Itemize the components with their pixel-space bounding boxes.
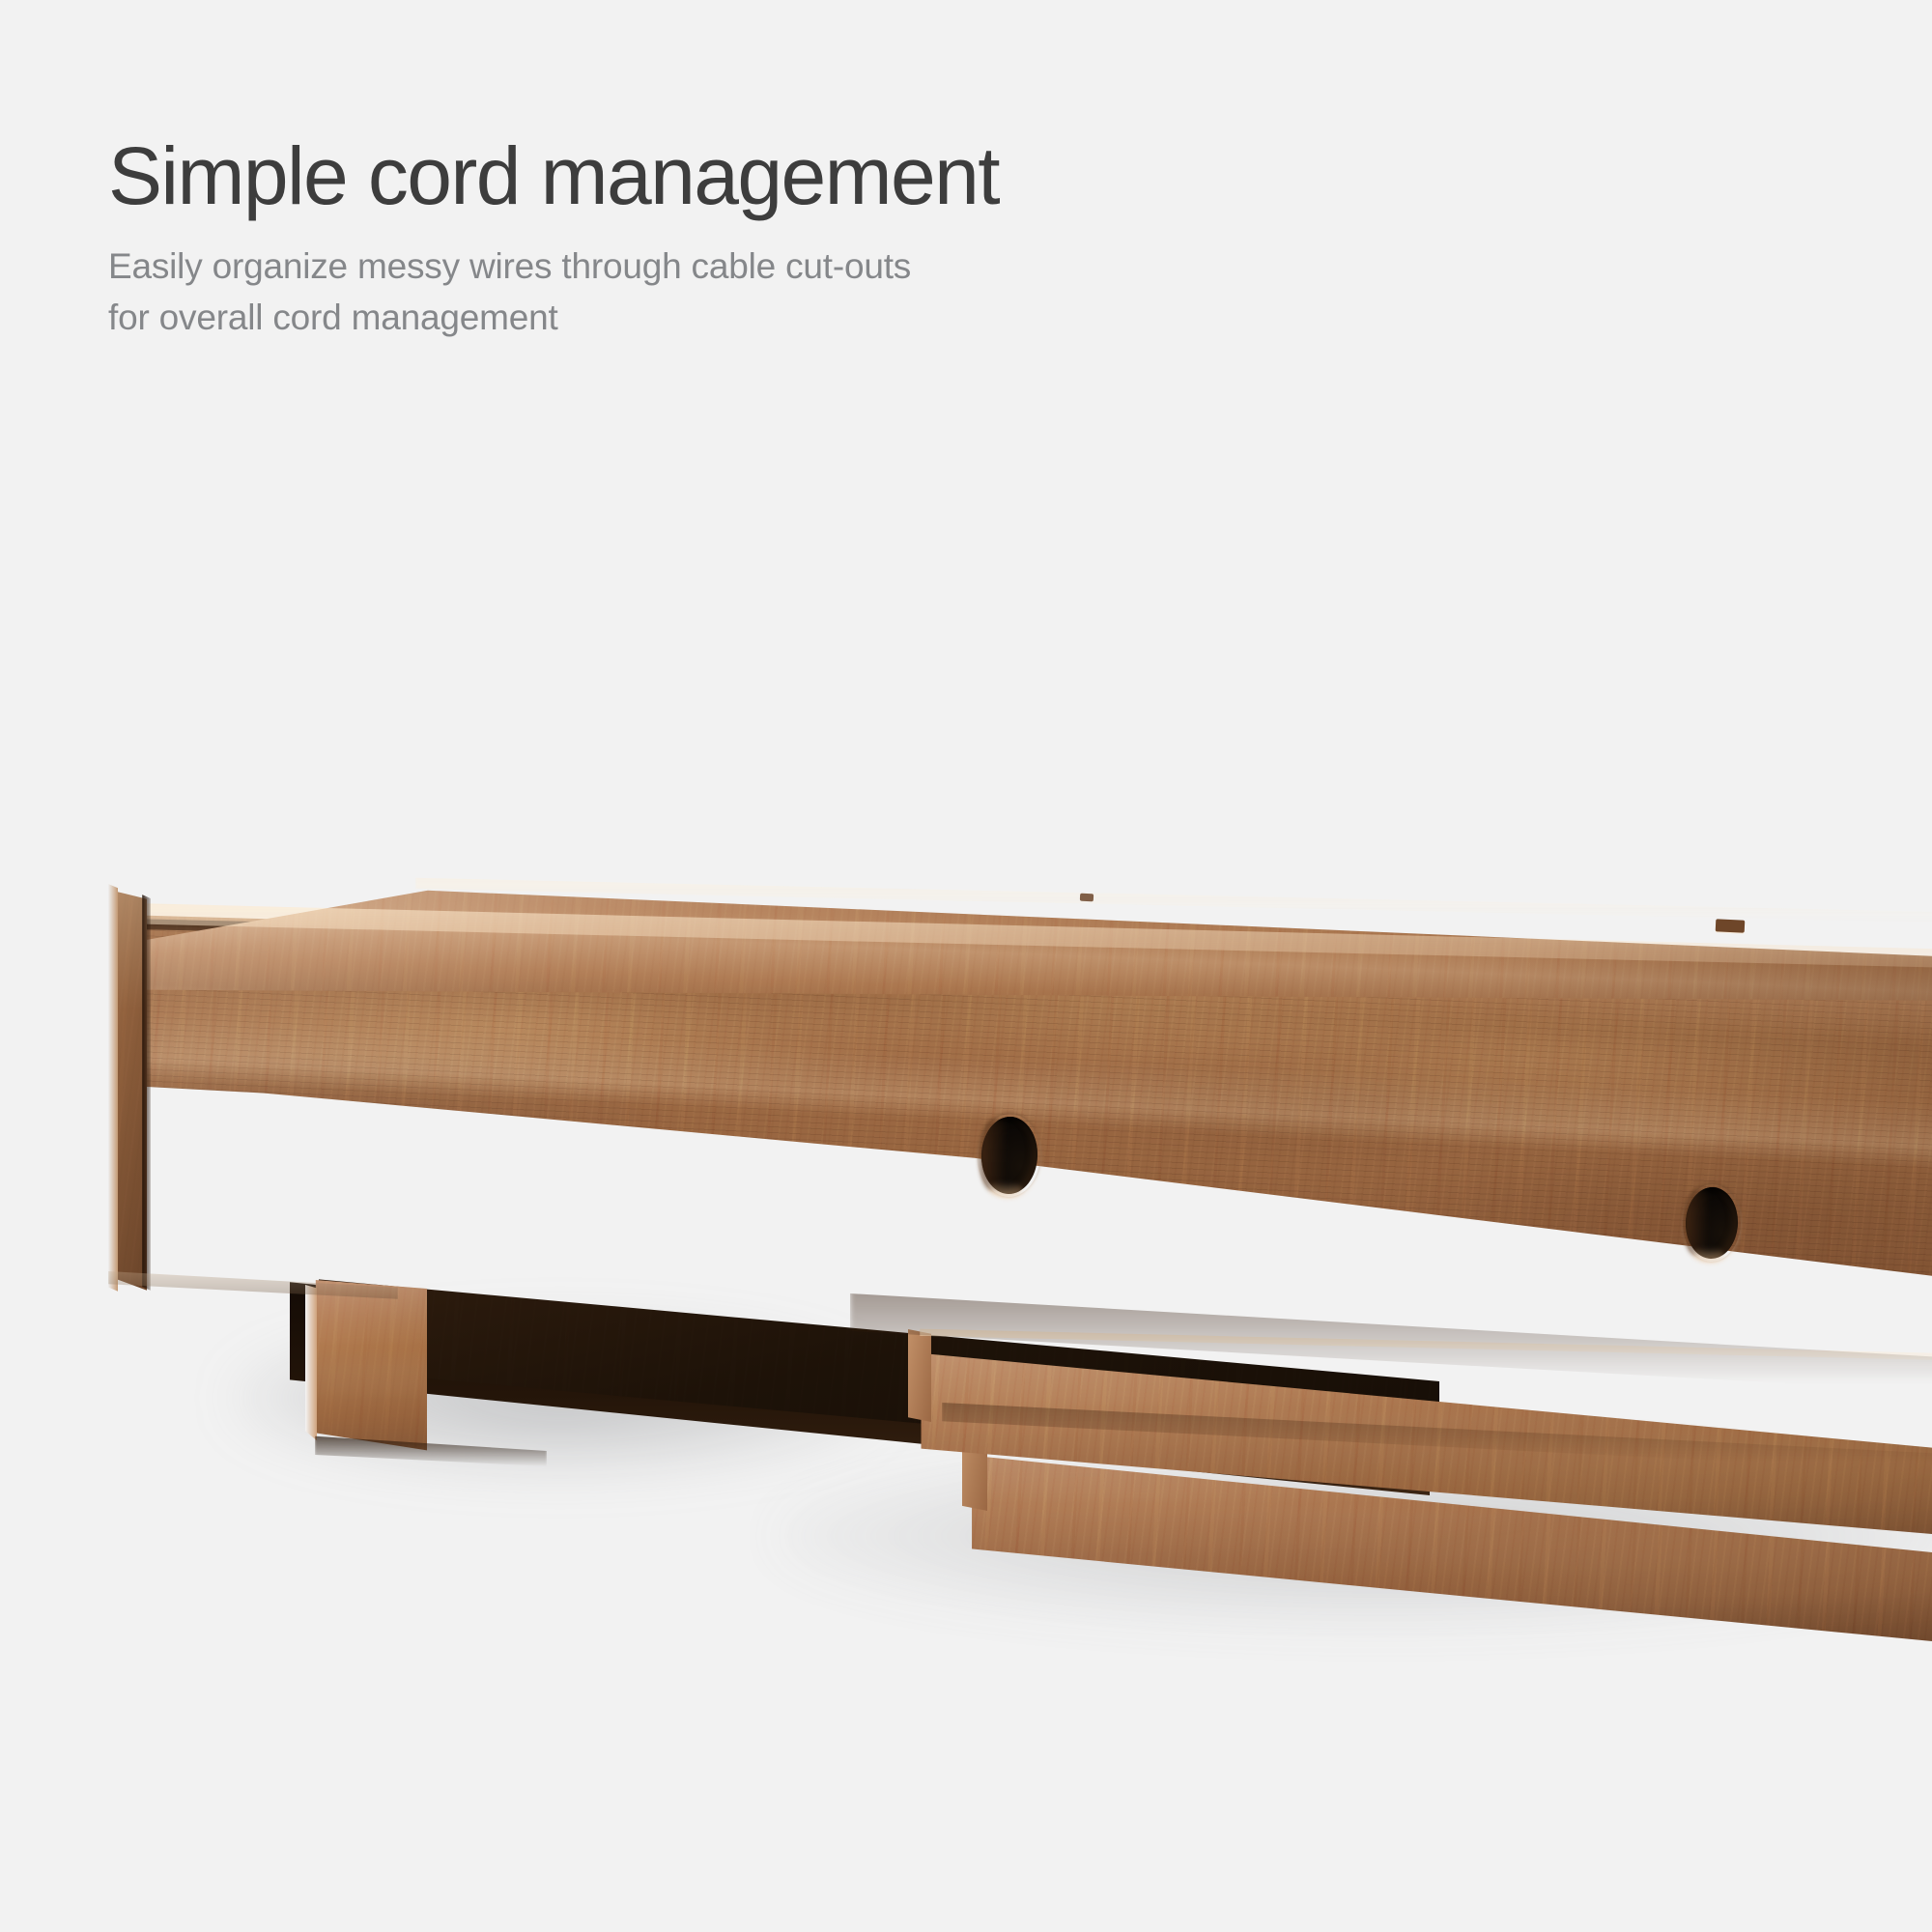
left-side-panel-edge (108, 884, 118, 1295)
page-subtitle-line-1: Easily organize messy wires through cabl… (108, 241, 1557, 293)
page-subtitle: Easily organize messy wires through cabl… (108, 241, 1557, 343)
cable-cut-out-right (1685, 1186, 1740, 1260)
left-side-reveal (142, 895, 151, 1294)
cable-cut-out-left-wall (979, 1119, 1007, 1190)
cable-cut-out-left (980, 1116, 1039, 1195)
block-leg-left-edge (305, 1285, 317, 1447)
block-leg-front-face (311, 1280, 427, 1454)
cable-cut-out-right-wall (1683, 1189, 1709, 1256)
cable-cut-out-right-lip (1691, 1246, 1724, 1262)
plinth-upper-end-cap (908, 1329, 931, 1422)
copy-block: Simple cord management Easily organize m… (108, 135, 1557, 343)
top-edge-notch-small (1080, 894, 1094, 902)
marketing-image: Simple cord management Easily organize m… (0, 0, 1932, 1932)
page-subtitle-line-2: for overall cord management (108, 293, 1557, 344)
top-edge-notch (1716, 919, 1746, 932)
page-title: Simple cord management (108, 135, 1557, 216)
